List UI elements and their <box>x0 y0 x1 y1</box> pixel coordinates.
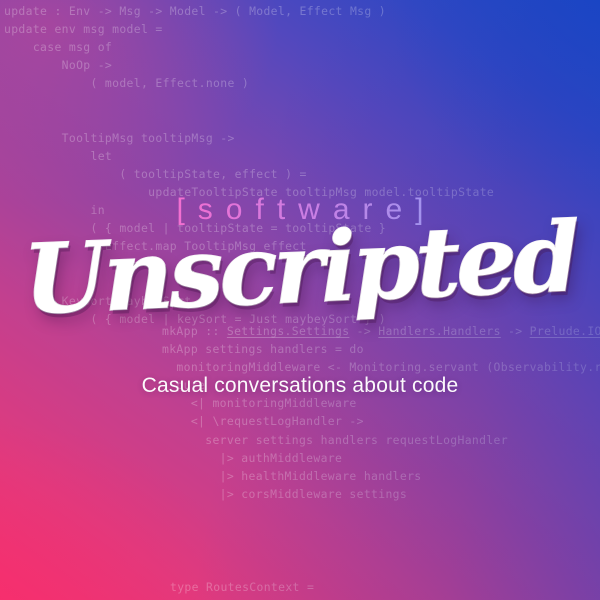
background-code-elm: update : Env -> Msg -> Model -> ( Model,… <box>4 2 494 328</box>
code-line: monitoringMiddleware <- Monitoring.serva… <box>162 358 600 376</box>
code-line: mkApp :: Settings.Settings -> Handlers.H… <box>162 322 600 340</box>
code-line: server settings handlers requestLogHandl… <box>162 431 600 449</box>
background-code-footer: type RoutesContext = <box>170 578 314 596</box>
code-line: <| \requestLogHandler -> <box>162 412 600 430</box>
code-line: |> corsMiddleware settings <box>162 485 600 503</box>
background-code-haskell: mkApp :: Settings.Settings -> Handlers.H… <box>162 322 600 503</box>
podcast-cover-art: update : Env -> Msg -> Model -> ( Model,… <box>0 0 600 600</box>
code-line: mkApp settings handlers = do <box>162 340 600 358</box>
code-line: |> healthMiddleware handlers <box>162 467 600 485</box>
background-code-layer: update : Env -> Msg -> Model -> ( Model,… <box>0 0 600 600</box>
code-line: <| monitoringMiddleware <box>162 394 600 412</box>
code-line: |> authMiddleware <box>162 449 600 467</box>
code-line: pure <box>162 376 600 394</box>
